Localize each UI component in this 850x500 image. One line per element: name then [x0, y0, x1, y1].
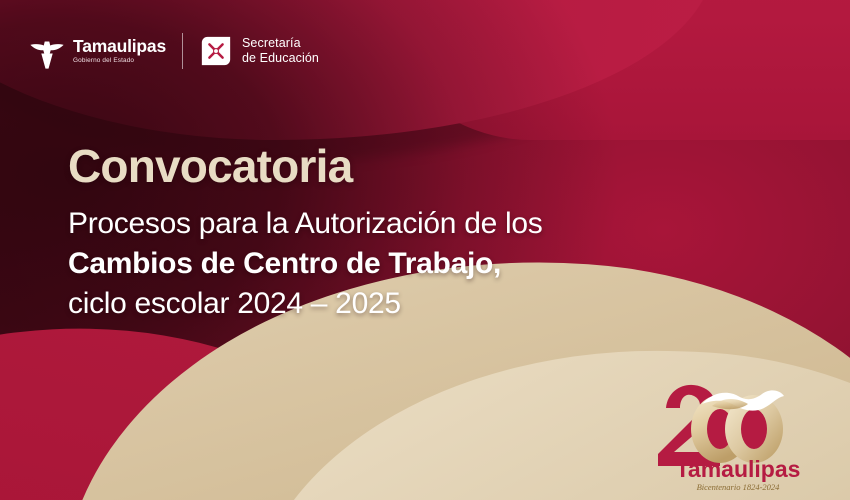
- bicentennial-emblem[interactable]: Tamaulipas Bicentenario 1824-2024: [650, 374, 828, 494]
- headline-kicker: Convocatoria: [68, 142, 542, 190]
- emblem-caption: Bicentenario 1824-2024: [697, 482, 781, 492]
- convocatoria-banner: Tamaulipas Gobierno del Estado Secretarí…: [0, 0, 850, 500]
- government-logo[interactable]: Tamaulipas Gobierno del Estado: [28, 32, 166, 70]
- secretariat-line-2: de Educación: [242, 51, 319, 66]
- secretariat-wordmark: Secretaría de Educación: [242, 36, 319, 67]
- headline-line-3: ciclo escolar 2024 – 2025: [68, 284, 542, 324]
- headline-block: Convocatoria Procesos para la Autorizaci…: [68, 142, 542, 324]
- secretariat-logo[interactable]: Secretaría de Educación: [199, 34, 319, 68]
- government-name: Tamaulipas: [73, 38, 166, 56]
- government-wordmark: Tamaulipas Gobierno del Estado: [73, 38, 166, 65]
- crossed-tools-shield-icon: [199, 34, 233, 68]
- secretariat-line-1: Secretaría: [242, 36, 319, 51]
- headline-line-2: Cambios de Centro de Trabajo,: [68, 244, 542, 284]
- tamaulipas-bird-icon: [28, 32, 66, 70]
- government-tagline: Gobierno del Estado: [73, 58, 166, 64]
- emblem-wordmark: Tamaulipas: [676, 456, 801, 482]
- bicentennial-emblem-graphic: Tamaulipas Bicentenario 1824-2024: [650, 374, 828, 494]
- logo-bar: Tamaulipas Gobierno del Estado Secretarí…: [28, 28, 319, 74]
- headline-line-1: Procesos para la Autorización de los: [68, 204, 542, 244]
- logo-divider: [182, 33, 183, 69]
